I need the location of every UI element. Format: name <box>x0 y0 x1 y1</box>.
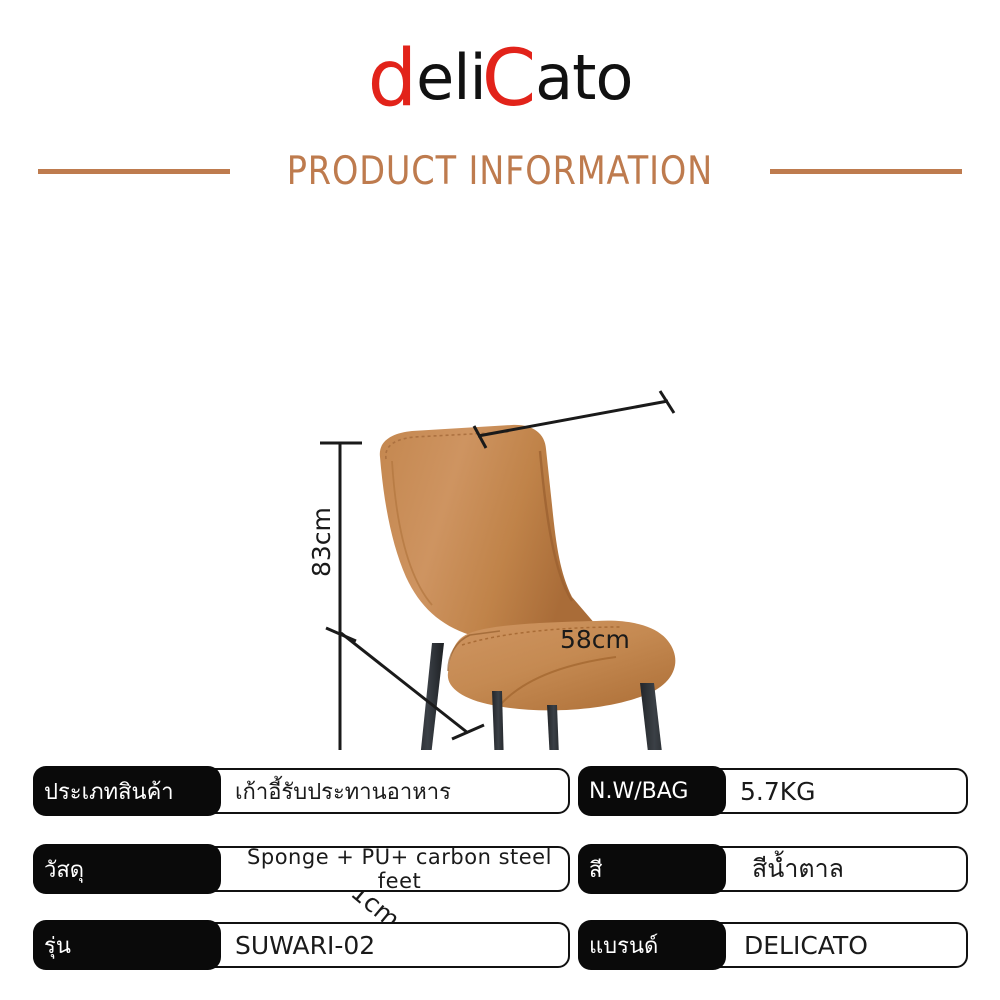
dimension-label-height: 83cm <box>307 507 336 577</box>
spec-key-brand: แบรนด์ <box>578 920 726 970</box>
chair-leg-back-right <box>640 683 672 750</box>
chair-drawing <box>0 205 1000 750</box>
spec-row-color: สีน้ำตาล สี <box>578 846 968 892</box>
specification-table: เก้าอี้รับประทานอาหาร ประเภทสินค้า Spong… <box>0 762 1000 992</box>
spec-row-material: Sponge + PU+ carbon steel feet วัสดุ <box>33 846 570 892</box>
logo-letters-ato: ato <box>535 41 632 114</box>
brand-logo-text: deliCato <box>368 28 633 123</box>
chair-backrest <box>380 425 596 635</box>
dimension-label-width: 58cm <box>560 625 630 654</box>
spec-row-net-weight: 5.7KG N.W/BAG <box>578 768 968 814</box>
product-illustration: 83cm 58cm 51cm <box>0 205 1000 750</box>
spec-row-model: SUWARI-02 รุ่น <box>33 922 570 968</box>
logo-letter-d: d <box>368 34 417 124</box>
logo-letter-c: C <box>482 34 535 124</box>
chair-leg-back-left <box>414 643 444 750</box>
dimension-height <box>320 443 362 750</box>
brand-logo: deliCato <box>0 28 1000 118</box>
title-rule-right <box>770 169 962 174</box>
spec-row-product-type: เก้าอี้รับประทานอาหาร ประเภทสินค้า <box>33 768 570 814</box>
spec-key-color: สี <box>578 844 726 894</box>
spec-key-model: รุ่น <box>33 920 221 970</box>
spec-key-material: วัสดุ <box>33 844 221 894</box>
spec-row-brand: DELICATO แบรนด์ <box>578 922 968 968</box>
title-rule-left <box>38 169 230 174</box>
section-title-row: PRODUCT INFORMATION <box>0 145 1000 197</box>
product-information-page: deliCato PRODUCT INFORMATION <box>0 0 1000 1000</box>
spec-key-net-weight: N.W/BAG <box>578 766 726 816</box>
logo-letters-eli: eli <box>416 41 486 114</box>
spec-key-product-type: ประเภทสินค้า <box>33 766 221 816</box>
chair-leg-front-right <box>547 705 562 750</box>
page-title: PRODUCT INFORMATION <box>287 149 713 194</box>
